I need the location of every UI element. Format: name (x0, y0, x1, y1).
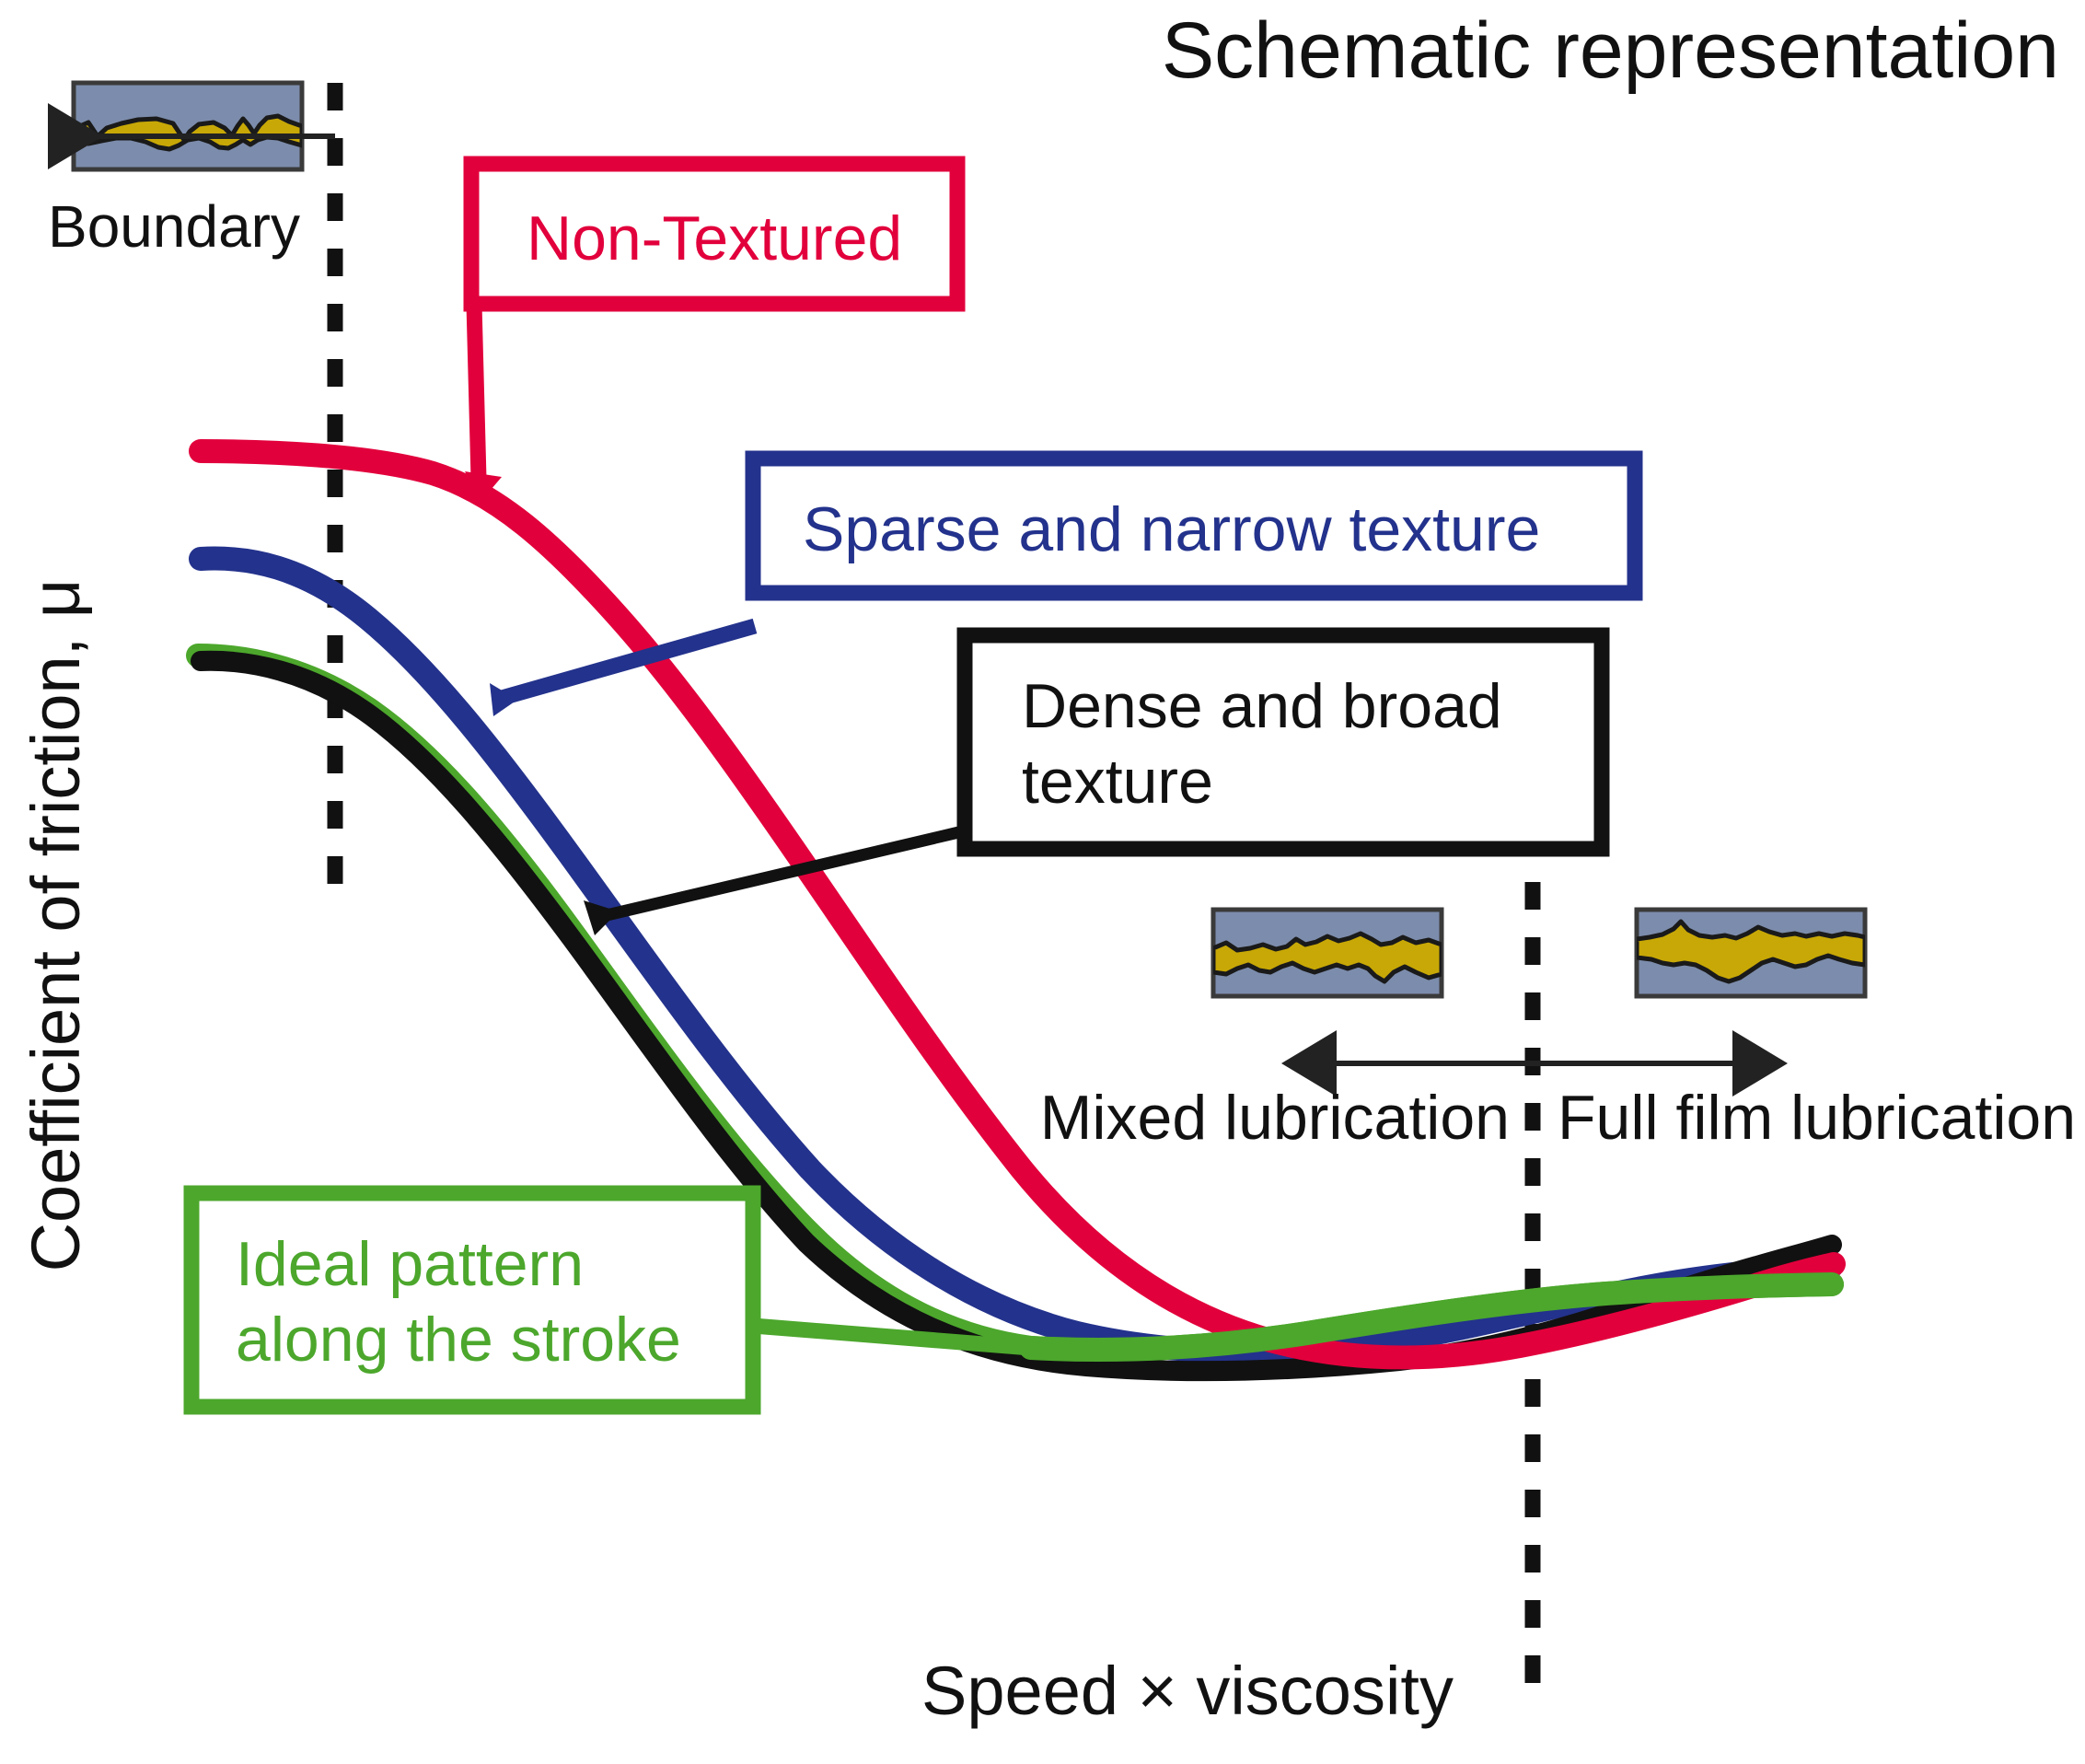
callout-non-textured[interactable]: Non-Textured (471, 164, 957, 304)
boundary-region-label: Boundary (48, 193, 300, 260)
callout-ideal-pattern-label-line1: Ideal pattern (236, 1229, 584, 1299)
figure-canvas: Schematic representation Boundary (0, 0, 2085, 1764)
boundary-contact-icon (74, 83, 302, 169)
mixed-lubrication-label: Mixed lubrication (1040, 1083, 1510, 1153)
full-film-lubrication-label: Full film lubrication (1558, 1083, 2076, 1153)
full-film-contact-icon (1637, 910, 1865, 996)
callout-dense-broad-label-line2: texture (1022, 747, 1213, 817)
callout-dense-broad-label-line1: Dense and broad (1022, 671, 1502, 741)
callout-ideal-pattern-label-line2: along the stroke (236, 1305, 681, 1375)
callout-dense-broad[interactable]: Dense and broad texture (965, 635, 1602, 849)
stribeck-schematic-svg: Schematic representation Boundary (0, 0, 2085, 1764)
page-title: Schematic representation (1162, 6, 2059, 95)
callout-sparse-narrow-label: Sparse and narrow texture (803, 494, 1540, 564)
x-axis-label: Speed × viscosity (921, 1653, 1454, 1729)
callout-ideal-pattern[interactable]: Ideal pattern along the stroke (191, 1193, 753, 1407)
y-axis-label: Coefficient of friction, μ (17, 579, 94, 1272)
leader-non-textured (474, 304, 479, 479)
callout-non-textured-label: Non-Textured (527, 203, 902, 273)
mixed-contact-icon (1213, 910, 1442, 996)
callout-sparse-narrow[interactable]: Sparse and narrow texture (753, 458, 1635, 593)
